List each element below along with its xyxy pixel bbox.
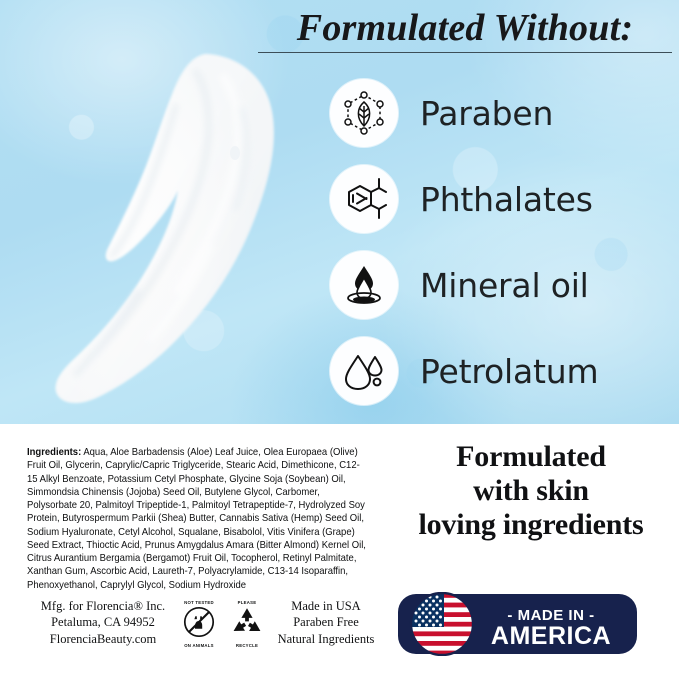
made-in-america-badge: - MADE IN - AMERICA <box>396 592 639 656</box>
water-droplets-icon <box>330 337 398 405</box>
cream-dimple <box>230 146 240 160</box>
badge-bottom-text: AMERICA <box>491 622 611 650</box>
ingredients-body: Aqua, Aloe Barbadensis (Aloe) Leaf Juice… <box>27 447 366 591</box>
recycle-top-text: PLEASE <box>227 601 267 605</box>
free-from-item-petrolatum: Petrolatum <box>330 328 675 414</box>
benzene-ring-icon <box>330 165 398 233</box>
cruelty-free-bottom-text: ON ANIMALS <box>179 644 219 648</box>
ingredients-block: Ingredients: Aqua, Aloe Barbadensis (Alo… <box>27 446 370 592</box>
made-in-america-svg: - MADE IN - AMERICA <box>396 592 639 656</box>
skin-claim-line-1: Formulated <box>395 440 667 474</box>
molecule-leaf-icon <box>330 79 398 147</box>
page-title: Formulated Without: <box>258 8 672 48</box>
recycle-bottom-text: RECYCLE <box>227 644 267 648</box>
free-from-label: Mineral oil <box>420 269 589 302</box>
product-claims: Made in USA Paraben Free Natural Ingredi… <box>275 598 377 647</box>
manufacturer-line-1: Mfg. for Florencia® Inc. <box>27 598 179 614</box>
cream-shading <box>56 54 274 403</box>
free-from-item-mineral-oil: Mineral oil <box>330 242 675 328</box>
manufacturer-website[interactable]: FlorenciaBeauty.com <box>27 631 179 647</box>
ingredients-paragraph: Ingredients: Aqua, Aloe Barbadensis (Alo… <box>27 446 370 592</box>
recycle-icon <box>231 606 263 638</box>
bottom-panel: Ingredients: Aqua, Aloe Barbadensis (Alo… <box>0 424 679 679</box>
cream-swatch-image <box>28 48 298 408</box>
claim-made-in-usa: Made in USA <box>275 598 377 614</box>
not-tested-on-animals-icon <box>183 606 215 638</box>
claim-paraben-free: Paraben Free <box>275 614 377 630</box>
product-infographic: Formulated Without: <box>0 0 679 679</box>
skin-claim-line-2: with skin <box>395 474 667 508</box>
manufacturer-line-2: Petaluma, CA 94952 <box>27 614 179 630</box>
skin-loving-claim: Formulated with skin loving ingredients <box>395 440 667 542</box>
headline-block: Formulated Without: <box>258 8 672 53</box>
manufacturer-address: Mfg. for Florencia® Inc. Petaluma, CA 94… <box>27 598 179 647</box>
manufacturer-block: Mfg. for Florencia® Inc. Petaluma, CA 94… <box>27 598 377 649</box>
recycle-symbol: PLEASE RECYCLE <box>227 601 267 649</box>
cruelty-free-symbol: NOT TESTED ON ANIMALS <box>179 601 219 649</box>
ingredients-lead-label: Ingredients: <box>27 447 81 458</box>
free-from-label: Paraben <box>420 97 553 130</box>
free-from-label: Phthalates <box>420 183 593 216</box>
claim-natural-ingredients: Natural Ingredients <box>275 631 377 647</box>
free-from-item-phthalates: Phthalates <box>330 156 675 242</box>
headline-underline <box>258 52 672 53</box>
free-from-label: Petrolatum <box>420 355 598 388</box>
free-from-item-paraben: Paraben <box>330 70 675 156</box>
cruelty-free-top-text: NOT TESTED <box>179 601 219 605</box>
cream-swatch-svg <box>28 48 298 408</box>
skin-claim-line-3: loving ingredients <box>395 508 667 542</box>
certification-symbols: NOT TESTED ON ANIMALS PLEASE <box>179 601 267 649</box>
oil-droplet-icon <box>330 251 398 319</box>
free-from-list: Paraben Phthalates <box>330 70 675 414</box>
